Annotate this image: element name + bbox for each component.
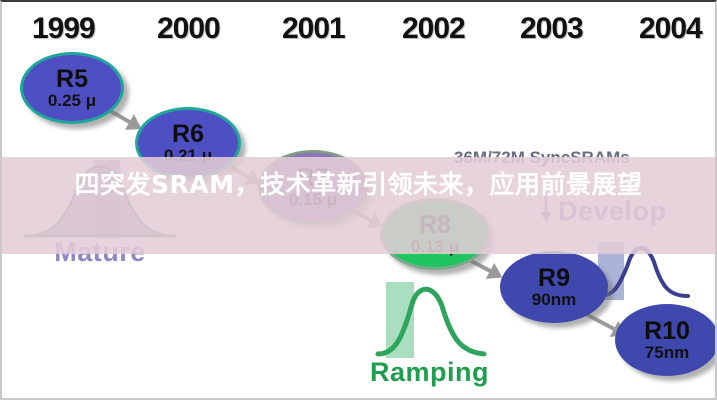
roadmap-node-r8[interactable]: R8 0.13 μ	[380, 198, 490, 270]
roadmap-image: 1999 2000 2001 2002 2003 2004 Mature Ram…	[0, 0, 717, 400]
ramping-bell-curve-icon	[342, 280, 517, 358]
node-r6-label: R6	[172, 121, 204, 147]
timeline-year-header: 1999 2000 2001 2002 2003 2004	[2, 2, 715, 54]
phase-group-ramping: Ramping	[342, 272, 517, 382]
overlay-headline: 四突发SRAM，技术革新引领未来，应用前景展望	[2, 168, 715, 201]
year-label-2000: 2000	[157, 12, 220, 46]
year-label-2002: 2002	[402, 12, 465, 46]
node-r9-label: R9	[538, 265, 570, 291]
node-r8-sublabel: 0.13 μ	[411, 238, 459, 256]
develop-bell-curve-icon	[592, 238, 717, 300]
sram-family-annotation: 36M/72M SyncSRAMs	[454, 148, 630, 168]
year-label-2003: 2003	[520, 12, 583, 46]
node-r10-sublabel: 75nm	[645, 344, 689, 362]
node-r5-sublabel: 0.25 μ	[48, 92, 96, 110]
roadmap-node-r5[interactable]: R5 0.25 μ	[20, 52, 124, 124]
node-r8-label: R8	[419, 212, 451, 238]
year-label-2001: 2001	[282, 12, 345, 46]
roadmap-node-r9[interactable]: R9 90nm	[500, 251, 608, 323]
node-r10-label: R10	[644, 318, 690, 344]
phase-label-mature: Mature	[20, 237, 180, 268]
year-label-2004: 2004	[639, 12, 702, 46]
phase-label-ramping: Ramping	[342, 357, 517, 388]
phase-group-develop-curve	[592, 234, 717, 314]
node-r5-label: R5	[56, 66, 88, 92]
node-r6-sublabel: 0.21 μ	[164, 147, 212, 165]
roadmap-node-r10[interactable]: R10 75nm	[615, 304, 717, 376]
year-label-1999: 1999	[32, 12, 95, 46]
node-r9-sublabel: 90nm	[532, 291, 576, 309]
